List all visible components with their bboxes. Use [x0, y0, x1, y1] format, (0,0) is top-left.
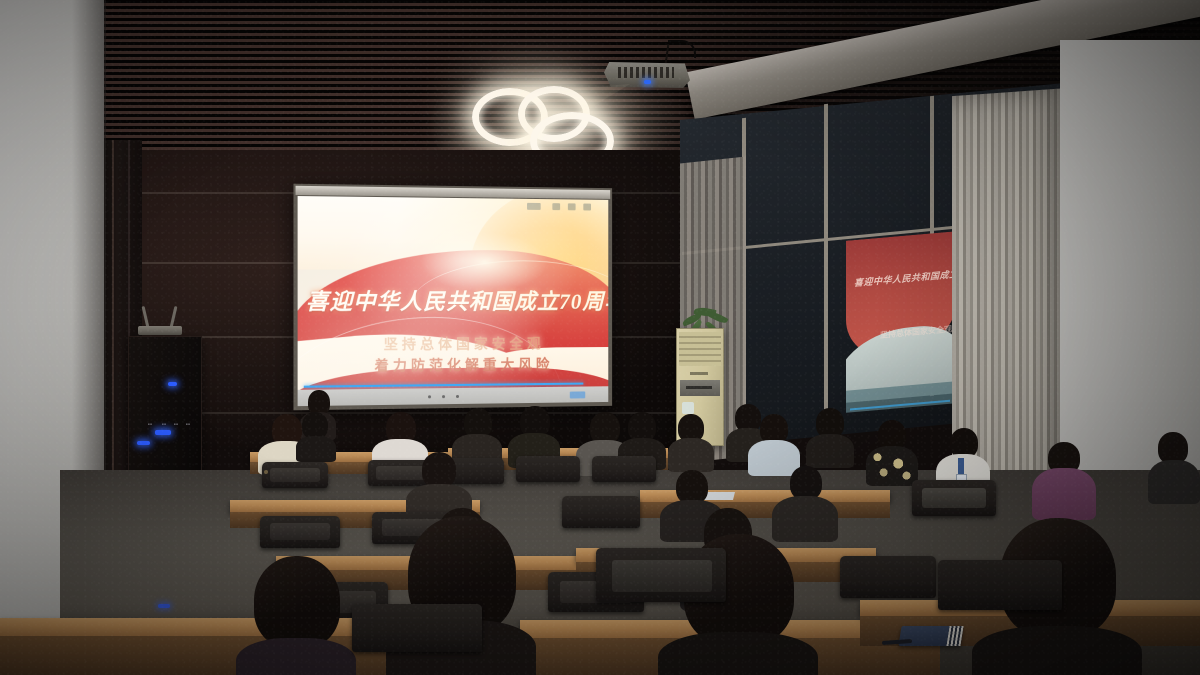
slide-app-toolbar[interactable] — [527, 203, 603, 213]
toolbar-icon[interactable] — [568, 203, 576, 210]
rack-label: ■■ — [174, 422, 179, 426]
toolbar-icon[interactable] — [527, 203, 541, 210]
person-body — [866, 446, 918, 486]
wifi-router-icon — [138, 316, 182, 336]
chair[interactable] — [938, 560, 1062, 610]
rack-label: ■■ — [162, 422, 167, 426]
chair-knob — [264, 470, 268, 474]
person-head — [254, 556, 340, 648]
taskbar-icon[interactable] — [442, 395, 445, 398]
taskbar-tray-icon[interactable] — [570, 391, 585, 398]
person-body — [972, 626, 1142, 675]
attendee-row2-e — [1148, 432, 1200, 502]
screen-frame: 喜迎中华人民共和国成立70周年 坚持总体国家安全观 着力防范化解重大风险 — [293, 184, 612, 411]
taskbar-icon[interactable] — [456, 395, 459, 398]
chair[interactable] — [562, 496, 640, 528]
slide-subtitle-line1: 坚持总体国家安全观 — [349, 333, 577, 354]
chair[interactable] — [352, 604, 482, 652]
person-head — [676, 470, 708, 504]
toolbar-icon[interactable] — [552, 203, 560, 210]
attendee-dark5 — [668, 414, 714, 470]
attendee-foreground-farleft — [236, 556, 356, 675]
person-body — [668, 438, 714, 472]
rack-label: ■■ — [186, 422, 191, 426]
chair-pad — [270, 523, 330, 540]
attendee-dark — [296, 412, 336, 458]
ac-sticker — [682, 402, 694, 414]
attendee-dark7 — [806, 408, 854, 466]
floor-led-reflection — [158, 604, 170, 608]
rack-led-icon — [155, 430, 171, 435]
chair-pad — [922, 488, 986, 508]
person-head — [302, 412, 328, 439]
chair-pad — [270, 468, 320, 482]
attendee-row2-c — [772, 466, 838, 540]
attendee-purple-shirt — [1032, 442, 1096, 518]
lecture-hall-photo: 喜迎中华人民共和国成立70周年 坚持总体国家安全观 ■■ ■■ ■■ ■■ — [0, 0, 1200, 675]
chair[interactable] — [516, 456, 580, 482]
ac-display-slot — [686, 386, 712, 389]
desktop-taskbar[interactable] — [298, 386, 609, 406]
projector-vents — [618, 67, 674, 78]
rack-led-icon — [168, 382, 177, 386]
person-body — [236, 638, 356, 675]
attendee-polka-dot — [866, 420, 918, 484]
person-head — [790, 466, 822, 500]
slide-title: 喜迎中华人民共和国成立70周年 — [306, 284, 601, 317]
rack-label: ■■ — [148, 422, 153, 426]
chair[interactable] — [840, 556, 936, 598]
slide-canvas: 喜迎中华人民共和国成立70周年 坚持总体国家安全观 着力防范化解重大风险 — [298, 196, 609, 406]
person-head — [422, 452, 456, 488]
ac-badge — [690, 372, 708, 375]
rack-led-icon — [137, 441, 150, 445]
person-body — [806, 434, 854, 468]
projector-icon — [604, 56, 690, 90]
ac-grille — [679, 332, 721, 366]
person-body — [1148, 460, 1200, 504]
chair-pad — [612, 560, 712, 592]
projection-screen: 喜迎中华人民共和国成立70周年 坚持总体国家安全观 着力防范化解重大风险 — [296, 186, 616, 408]
window-reflection-of-slide: 喜迎中华人民共和国成立70周年 坚持总体国家安全观 — [846, 231, 956, 431]
chair[interactable] — [592, 456, 656, 482]
person-body — [658, 632, 818, 675]
attendee-lightblue — [748, 414, 800, 474]
toolbar-icon[interactable] — [583, 204, 591, 211]
router-body — [138, 326, 182, 335]
person-body — [296, 436, 336, 462]
window-mullion — [824, 104, 828, 414]
slide-subtitle-line2: 着力防范化解重大风险 — [349, 354, 577, 376]
person-body — [1032, 468, 1096, 520]
projector-led-icon — [644, 80, 651, 84]
taskbar-icon[interactable] — [428, 395, 431, 398]
